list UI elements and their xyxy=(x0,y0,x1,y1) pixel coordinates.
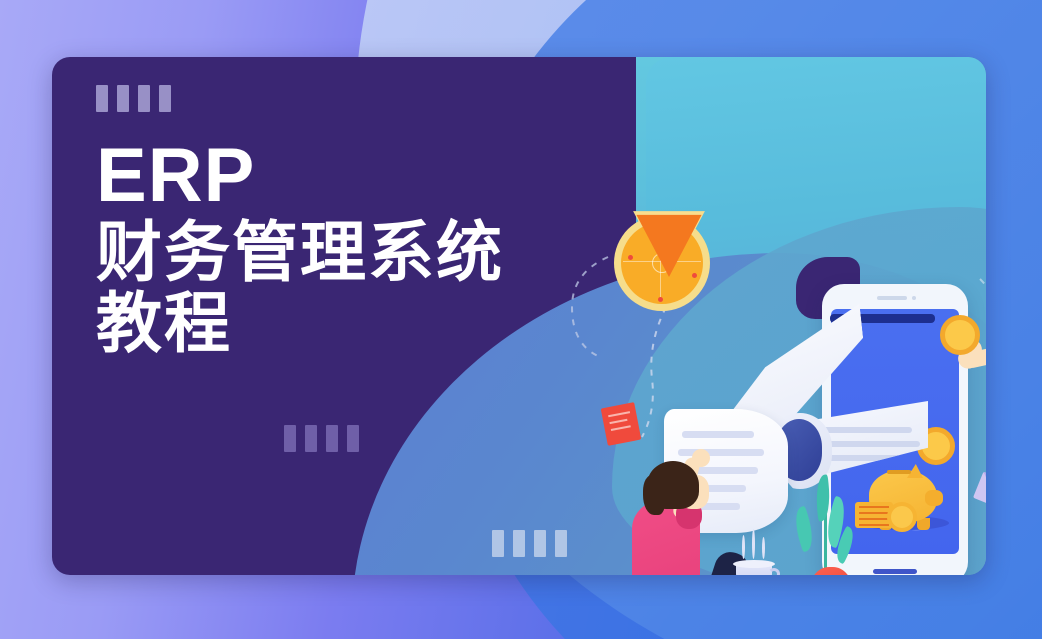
headline-block: ERP 财务管理系统 教程 xyxy=(96,85,504,359)
phone-home-bar xyxy=(873,569,917,574)
pie-chart-icon xyxy=(614,215,710,311)
text-line xyxy=(822,427,912,433)
gold-coin-icon xyxy=(887,502,917,532)
gold-coin-icon xyxy=(940,315,980,355)
piggy-snout xyxy=(925,490,943,506)
pie-marker-dot xyxy=(658,297,663,302)
dash-mark xyxy=(159,85,171,112)
dash-mark xyxy=(96,85,108,112)
dash-mark xyxy=(305,425,317,452)
title-chinese-line2: 教程 xyxy=(96,288,504,359)
coffee-cup-handle xyxy=(768,568,780,575)
steam-line xyxy=(752,529,755,559)
text-line xyxy=(678,449,764,456)
coffee-cup-rim xyxy=(733,560,775,568)
dash-mark xyxy=(347,425,359,452)
dash-mark xyxy=(117,85,129,112)
steam-line xyxy=(742,535,745,559)
title-english: ERP xyxy=(96,140,504,213)
text-line xyxy=(818,441,920,447)
dash-mark xyxy=(326,425,338,452)
banner-card: ERP 财务管理系统 教程 xyxy=(52,57,986,575)
steam-line xyxy=(762,537,765,559)
pie-marker-dot xyxy=(692,273,697,278)
sticky-note-icon xyxy=(601,402,642,446)
person-sitting-hand xyxy=(692,449,710,467)
piggy-coin-slot xyxy=(887,470,911,474)
phone-camera xyxy=(912,296,916,300)
decorative-dashes-middle xyxy=(284,425,359,452)
decorative-dashes-bottom xyxy=(492,530,567,557)
dash-mark xyxy=(284,425,296,452)
dash-mark xyxy=(534,530,546,557)
dash-mark xyxy=(555,530,567,557)
phone-speaker xyxy=(877,296,907,300)
dash-mark xyxy=(492,530,504,557)
dash-mark xyxy=(138,85,150,112)
text-line xyxy=(682,431,754,438)
title-chinese-line1: 财务管理系统 xyxy=(96,217,504,288)
pie-marker-dot xyxy=(628,255,633,260)
dash-mark xyxy=(513,530,525,557)
decorative-dashes-top xyxy=(96,85,504,112)
plant-stem xyxy=(824,512,827,574)
person-sitting-hair-side xyxy=(643,475,665,515)
